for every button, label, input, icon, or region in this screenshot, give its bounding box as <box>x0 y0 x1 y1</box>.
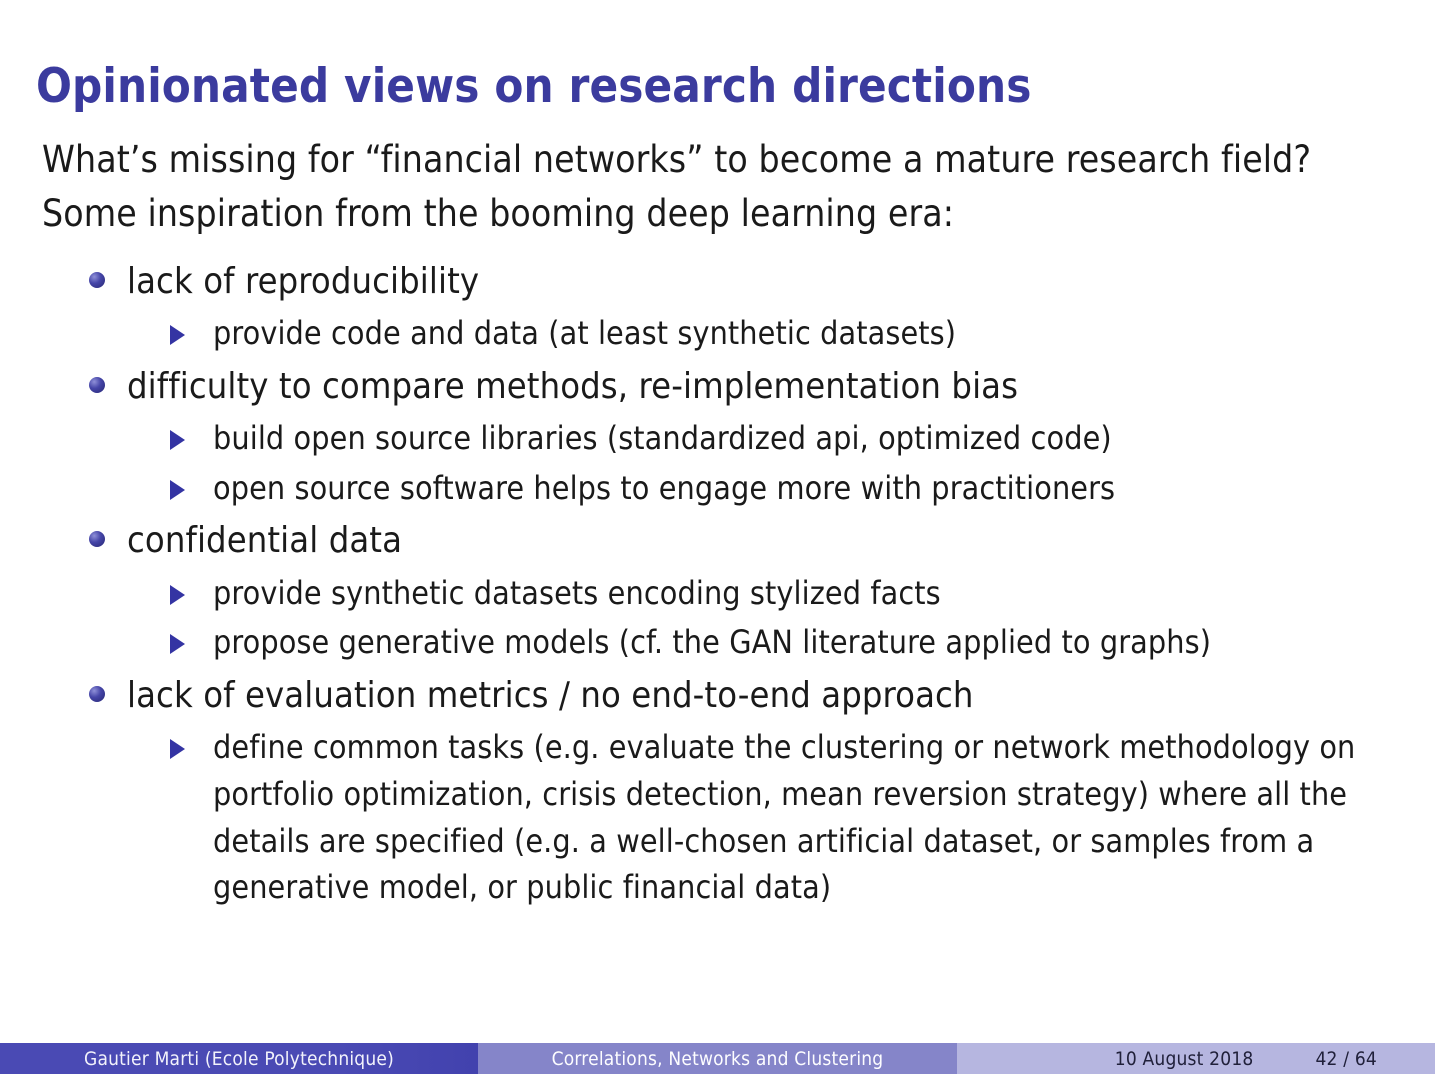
bullet-triangle-icon <box>170 480 185 500</box>
bullet-triangle-icon <box>170 739 185 759</box>
bullet-triangle-icon <box>170 585 185 605</box>
bullet-triangle-icon <box>170 325 185 345</box>
list-item: difficulty to compare methods, re-implem… <box>42 363 1412 512</box>
sub-list-item: build open source libraries (standardize… <box>127 415 1412 462</box>
footer-subject: Correlations, Networks and Clustering <box>478 1043 957 1074</box>
sub-bullet-label: build open source libraries (standardize… <box>213 415 1412 462</box>
sub-bullet-label: provide code and data (at least syntheti… <box>213 310 1412 357</box>
bullet-triangle-icon <box>170 430 185 450</box>
bullet-list-level-2: define common tasks (e.g. evaluate the c… <box>127 724 1412 911</box>
page-title: Opinionated views on research directions <box>36 62 1031 113</box>
list-item: lack of evaluation metrics / no end-to-e… <box>42 672 1412 911</box>
sub-list-item: provide code and data (at least syntheti… <box>127 310 1412 357</box>
sub-bullet-label: provide synthetic datasets encoding styl… <box>213 570 1412 617</box>
intro-line-1: What’s missing for “financial networks” … <box>42 133 1412 187</box>
sub-list-item: define common tasks (e.g. evaluate the c… <box>127 724 1412 911</box>
slide-body: What’s missing for “financial networks” … <box>42 133 1412 917</box>
bullet-list-level-2: provide code and data (at least syntheti… <box>127 310 1412 357</box>
bullet-ball-icon <box>89 272 105 288</box>
bullet-label: lack of evaluation metrics / no end-to-e… <box>127 672 1412 720</box>
footer-page-number: 42 / 64 <box>1315 1048 1377 1070</box>
list-item: confidential data provide synthetic data… <box>42 517 1412 666</box>
sub-list-item: propose generative models (cf. the GAN l… <box>127 619 1412 666</box>
bullet-list-level-2: build open source libraries (standardize… <box>127 415 1412 511</box>
footer-author: Gautier Marti (Ecole Polytechnique) <box>0 1043 478 1074</box>
bullet-label: confidential data <box>127 517 1412 565</box>
bullet-triangle-icon <box>170 634 185 654</box>
bullet-list-level-2: provide synthetic datasets encoding styl… <box>127 570 1412 666</box>
intro-line-2: Some inspiration from the booming deep l… <box>42 187 1412 241</box>
sub-bullet-label: define common tasks (e.g. evaluate the c… <box>213 724 1403 911</box>
slide-footer: Gautier Marti (Ecole Polytechnique) Corr… <box>0 1043 1435 1074</box>
sub-list-item: provide synthetic datasets encoding styl… <box>127 570 1412 617</box>
footer-date: 10 August 2018 <box>1115 1048 1254 1070</box>
sub-bullet-label: propose generative models (cf. the GAN l… <box>213 619 1412 666</box>
bullet-ball-icon <box>89 686 105 702</box>
bullet-ball-icon <box>89 377 105 393</box>
bullet-label: difficulty to compare methods, re-implem… <box>127 363 1412 411</box>
footer-meta: 10 August 2018 42 / 64 <box>957 1043 1435 1074</box>
list-item: lack of reproducibility provide code and… <box>42 258 1412 357</box>
sub-list-item: open source software helps to engage mor… <box>127 465 1412 512</box>
bullet-label: lack of reproducibility <box>127 258 1412 306</box>
sub-bullet-label: open source software helps to engage mor… <box>213 465 1412 512</box>
bullet-list-level-1: lack of reproducibility provide code and… <box>42 258 1412 911</box>
slide-canvas: Opinionated views on research directions… <box>0 0 1435 1074</box>
bullet-ball-icon <box>89 531 105 547</box>
